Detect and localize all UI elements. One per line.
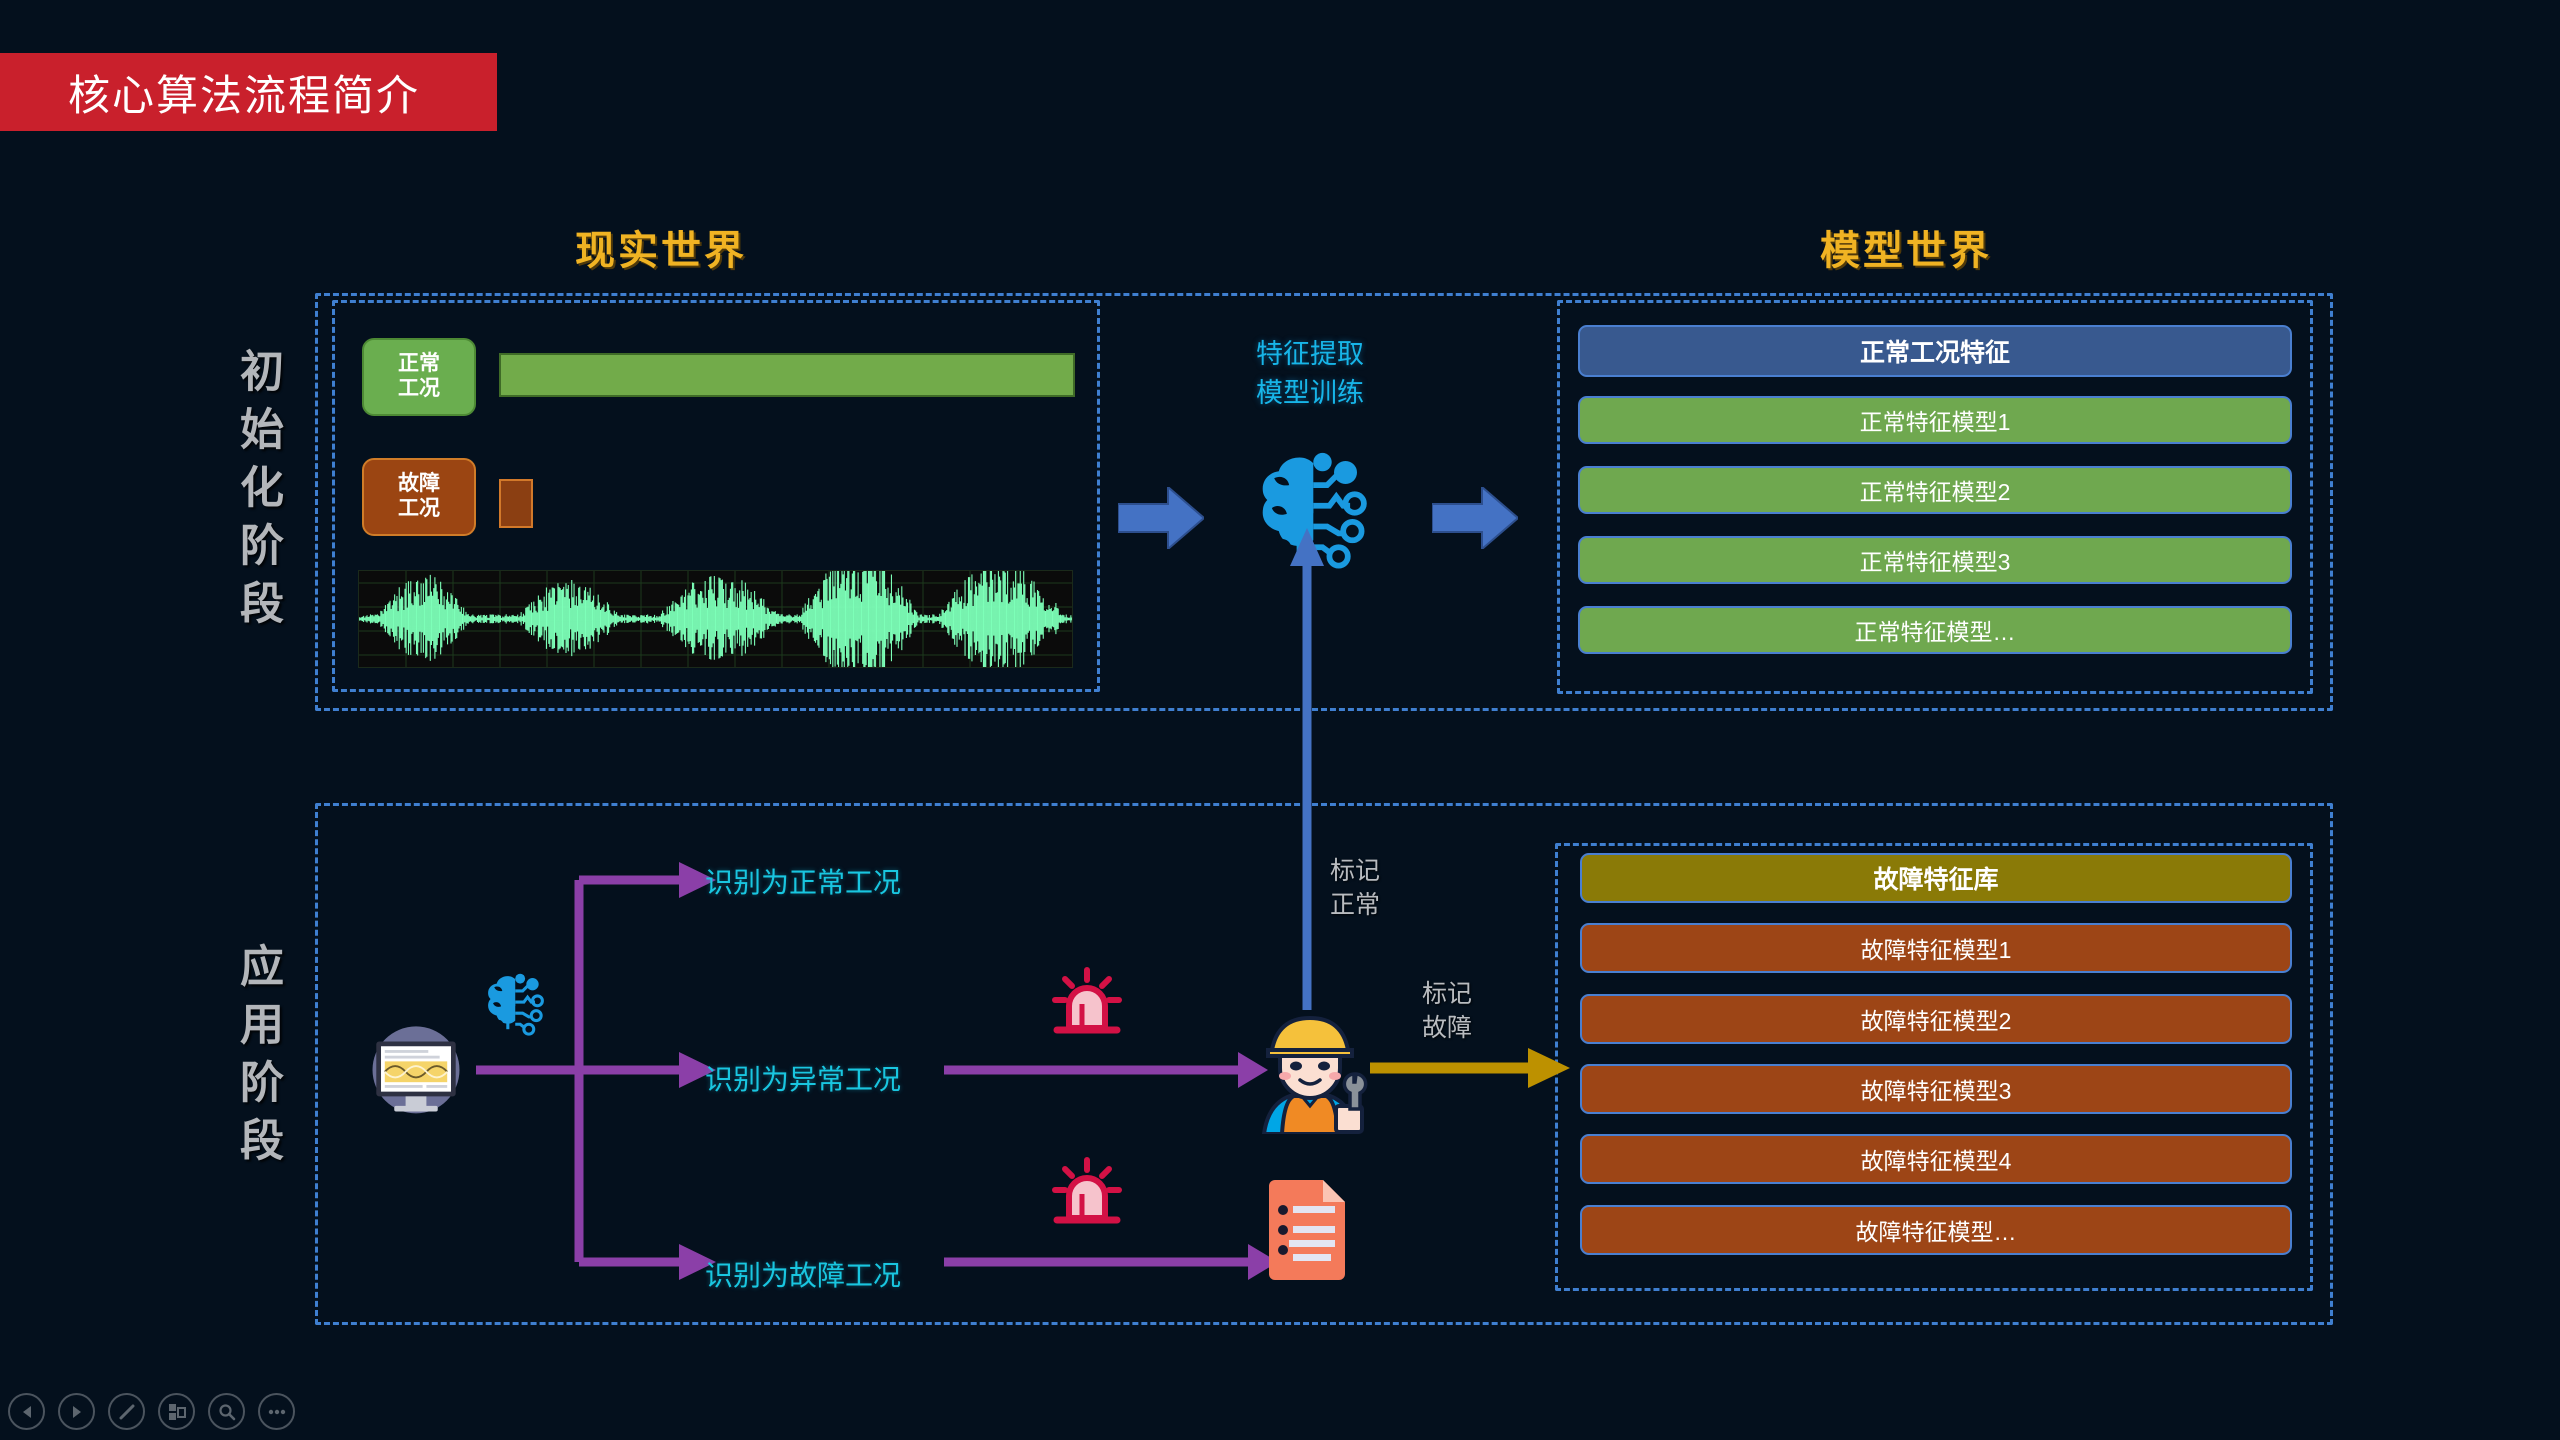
triangle-right-icon [70,1405,84,1419]
fault-feature-item-4[interactable]: 故障特征模型4 [1580,1134,2292,1184]
presentation-toolbar [8,1393,295,1430]
mark-fault-line2: 故障 [1422,1012,1472,1046]
next-slide-button[interactable] [58,1393,95,1430]
ai-brain-icon [1242,450,1380,580]
slide-canvas: 核心算法流程简介 现实世界 模型世界 初始化阶段 应用阶段 正常 工况 故障 工… [0,0,2560,1440]
phase-label-application: 应用阶段 [225,943,289,1175]
normal-condition-tag-line2: 工况 [398,377,440,402]
model-world-heading: 模型世界 [1820,218,1992,276]
waveform-icon [359,571,1072,667]
alarm-siren-icon [1045,1156,1129,1228]
signal-waveform-panel [358,570,1073,668]
normal-sample-bar [499,353,1075,397]
alarm-siren-icon [1045,966,1129,1038]
page-title: 核心算法流程简介 [68,62,420,123]
normal-condition-tag-line1: 正常 [398,352,440,377]
fault-condition-tag-line2: 工况 [398,497,440,522]
slide-title-banner: 核心算法流程简介 [0,53,497,131]
phase-label-initialization: 初始化阶段 [225,348,289,638]
ellipsis-icon [268,1409,286,1415]
normal-feature-item-3[interactable]: 正常特征模型3 [1578,536,2292,584]
fault-condition-tag-line1: 故障 [398,472,440,497]
monitor-waveform-icon [364,1020,468,1116]
fault-feature-item-1[interactable]: 故障特征模型1 [1580,923,2292,973]
fault-feature-item-3[interactable]: 故障特征模型3 [1580,1064,2292,1114]
feature-extraction-caption: 特征提取 模型训练 [1200,335,1420,413]
mark-normal-label: 标记 正常 [1330,855,1380,923]
fault-condition-tag: 故障 工况 [362,458,476,536]
mark-normal-line2: 正常 [1330,889,1380,923]
more-options-button[interactable] [258,1393,295,1430]
engineer-worker-icon [1250,1010,1370,1134]
report-document-icon [1265,1178,1349,1282]
normal-feature-item-1[interactable]: 正常特征模型1 [1578,396,2292,444]
branch-label-normal: 识别为正常工况 [705,861,901,901]
branch-label-abnormal: 识别为异常工况 [705,1058,901,1098]
pen-icon [118,1403,136,1421]
normal-feature-item-2[interactable]: 正常特征模型2 [1578,466,2292,514]
normal-feature-library-header[interactable]: 正常工况特征 [1578,325,2292,377]
fault-sample-bar [499,479,533,528]
magnifier-icon [218,1403,236,1421]
model-training-line2: 模型训练 [1200,374,1420,413]
branch-label-fault: 识别为故障工况 [705,1254,901,1294]
fault-feature-item-2[interactable]: 故障特征模型2 [1580,994,2292,1044]
real-world-heading: 现实世界 [575,218,747,276]
mark-fault-line1: 标记 [1422,978,1472,1012]
ai-brain-icon-small [477,972,551,1042]
normal-condition-tag: 正常 工况 [362,338,476,416]
output-arrow-icon [1432,487,1518,549]
grid-icon [168,1403,186,1421]
triangle-left-icon [20,1405,34,1419]
zoom-tool-button[interactable] [208,1393,245,1430]
mark-fault-label: 标记 故障 [1422,978,1472,1046]
fault-feature-library-header[interactable]: 故障特征库 [1580,853,2292,903]
pen-tool-button[interactable] [108,1393,145,1430]
input-arrow-icon [1118,487,1204,549]
feature-extraction-line1: 特征提取 [1200,335,1420,374]
previous-slide-button[interactable] [8,1393,45,1430]
mark-normal-line1: 标记 [1330,855,1380,889]
slide-overview-button[interactable] [158,1393,195,1430]
fault-feature-item-5[interactable]: 故障特征模型… [1580,1205,2292,1255]
normal-feature-item-4[interactable]: 正常特征模型… [1578,606,2292,654]
